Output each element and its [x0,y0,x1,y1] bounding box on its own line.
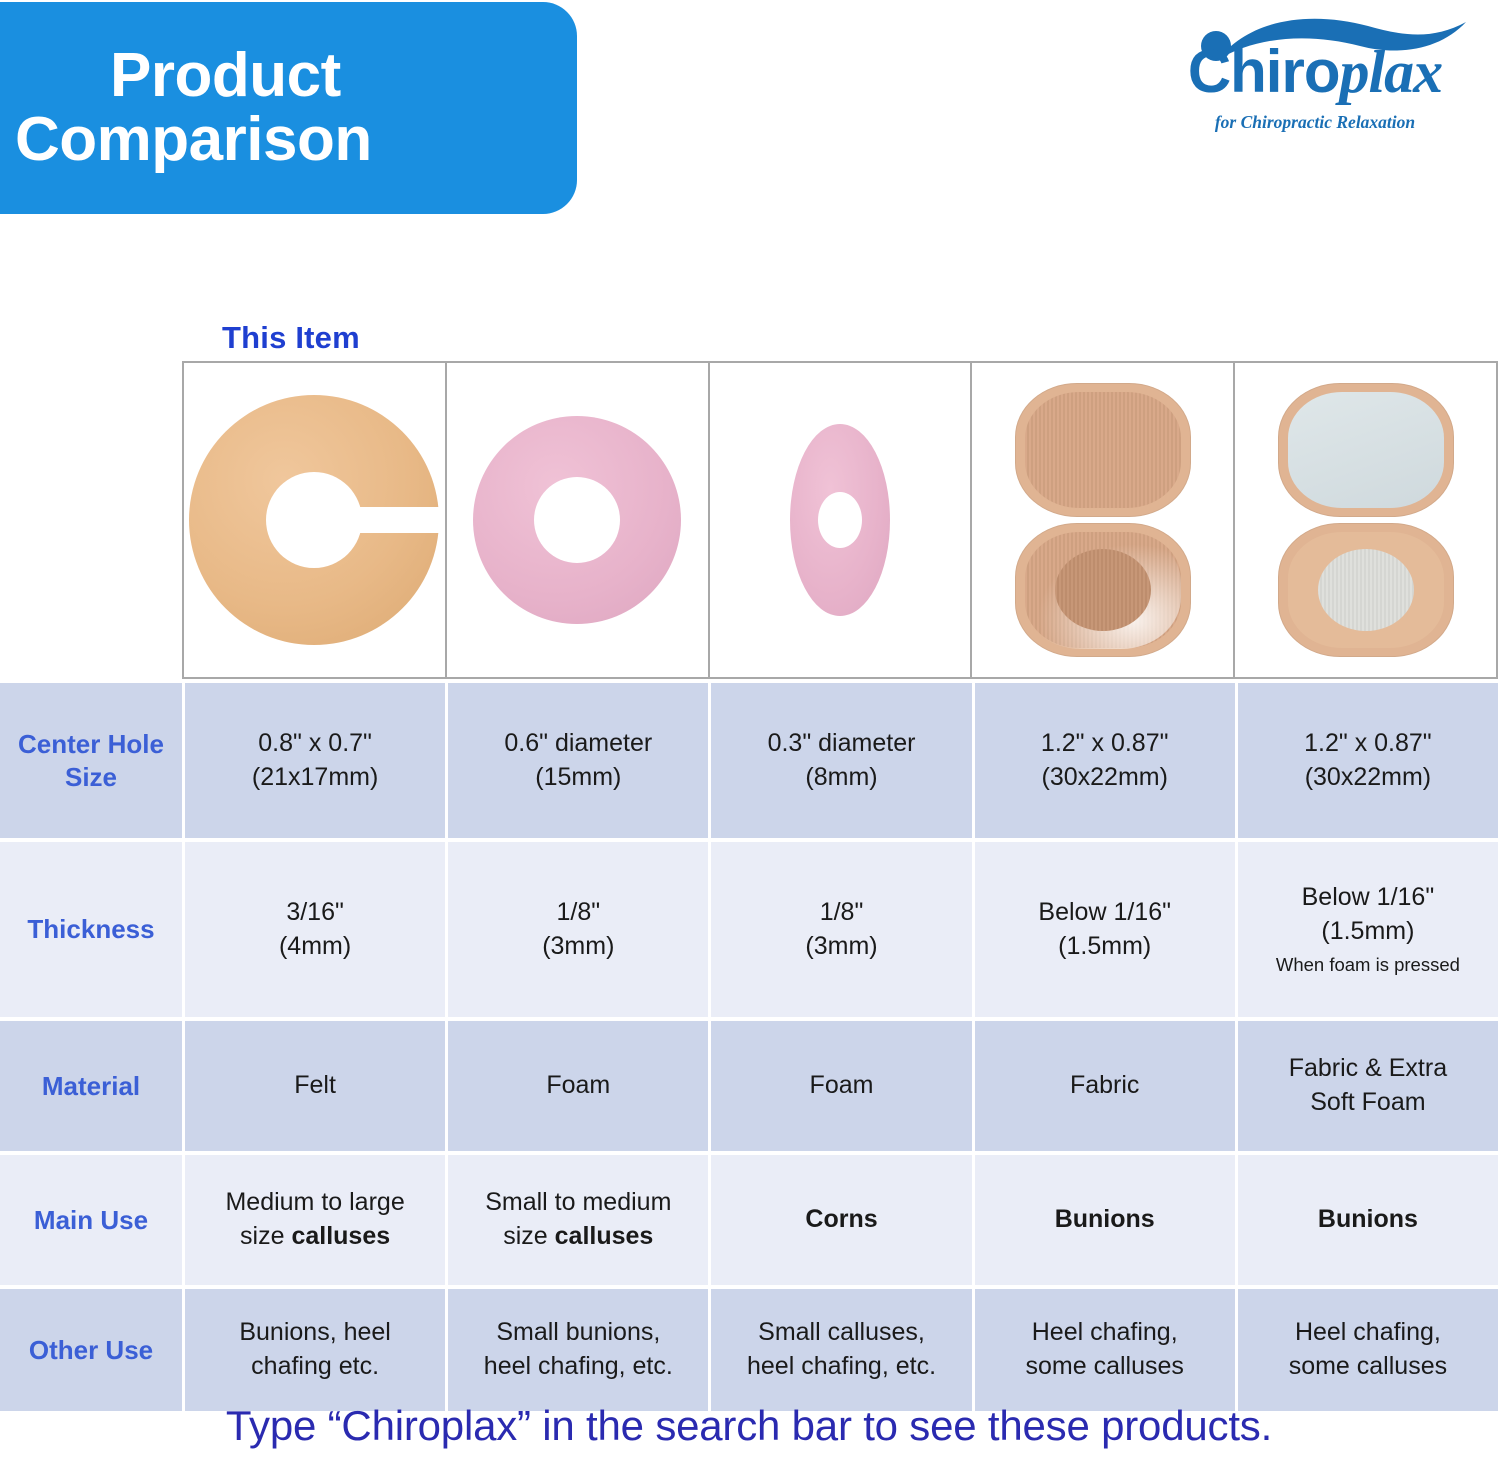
cell-hole-size-col3: 0.3" diameter (8mm) [708,683,971,838]
cell-line1: 0.6" diameter [504,727,652,761]
cell-line2: heel chafing, etc. [484,1350,673,1384]
cell-line1: Bunions, heel [239,1316,391,1350]
cell-main-use-col2: Small to medium size calluses [445,1155,708,1285]
cell-material-col3: Foam [708,1021,971,1151]
cell-line2-bold: calluses [291,1222,390,1250]
row-label-center-hole-size: Center Hole Size [0,683,182,838]
cell-line2: (15mm) [535,761,621,795]
cell-line2: (21x17mm) [252,761,378,795]
felt-pad-opening [355,507,441,533]
cell-line2: (30x22mm) [1042,761,1168,795]
cell-line2: size calluses [503,1220,653,1254]
comparison-table: Center Hole Size 0.8" x 0.7" (21x17mm) 0… [0,361,1498,1411]
table-row-material: Material Felt Foam Foam Fabric Fabric & … [0,1021,1498,1151]
brand-logo: Chiroplax for Chiropractic Relaxation [1150,16,1480,144]
cell-line2: heel chafing, etc. [747,1350,936,1384]
fabric-bunion-pad-pair-art [1015,383,1191,657]
soft-foam-pad-back [1278,523,1454,657]
cell-other-use-col2: Small bunions, heel chafing, etc. [445,1289,708,1411]
cell-line2: (4mm) [279,930,351,964]
cell-line1: Bunions [1055,1203,1155,1237]
cell-main-use-col5: Bunions [1235,1155,1498,1285]
cell-thickness-col2: 1/8" (3mm) [445,842,708,1017]
page-title-line2: Comparison [15,108,577,172]
felt-c-shaped-pad-art [189,395,439,645]
cell-other-use-col3: Small calluses, heel chafing, etc. [708,1289,971,1411]
product-image-row [182,361,1498,679]
cell-line1: Foam [546,1069,610,1103]
cell-line2: some calluses [1026,1350,1184,1384]
fabric-pad-front [1015,383,1191,517]
product-image-foam-corn-pad [710,363,973,677]
cell-line2-text: size [503,1222,554,1250]
product-image-fabric-bunion-pad [972,363,1235,677]
product-image-foam-donut-pad [447,363,710,677]
table-row-center-hole-size: Center Hole Size 0.8" x 0.7" (21x17mm) 0… [0,683,1498,838]
product-image-fabric-soft-foam-bunion-pad [1235,363,1496,677]
logo-tagline: for Chiropractic Relaxation [1150,112,1480,133]
cell-material-col4: Fabric [972,1021,1235,1151]
cell-line1: Below 1/16" [1038,896,1171,930]
title-banner: Product Comparison [0,2,577,214]
cell-other-use-col5: Heel chafing, some calluses [1235,1289,1498,1411]
cell-line2: some calluses [1289,1350,1447,1384]
cell-line1: Corns [805,1203,877,1237]
cell-hole-size-col4: 1.2" x 0.87" (30x22mm) [972,683,1235,838]
product-comparison-infographic: Product Comparison Chiroplax for Chiropr… [0,0,1498,1466]
cell-main-use-col3: Corns [708,1155,971,1285]
cell-line1: 1/8" [556,896,600,930]
cell-line2: (1.5mm) [1321,915,1414,949]
cell-note: When foam is pressed [1276,953,1460,978]
cell-material-col5: Fabric & Extra Soft Foam [1235,1021,1498,1151]
cell-line2: (8mm) [805,761,877,795]
cell-line1: Small calluses, [758,1316,925,1350]
row-label-other-use: Other Use [0,1289,182,1411]
cell-other-use-col4: Heel chafing, some calluses [972,1289,1235,1411]
cell-other-use-col1: Bunions, heel chafing etc. [182,1289,445,1411]
pink-foam-oval-corn-pad-art [790,424,890,616]
table-row-other-use: Other Use Bunions, heel chafing etc. Sma… [0,1289,1498,1411]
cell-line1: Small bunions, [496,1316,660,1350]
logo-wordmark: Chiroplax [1150,42,1480,102]
cell-line2: size calluses [240,1220,390,1254]
cell-line1: 1/8" [820,896,864,930]
cell-thickness-col1: 3/16" (4mm) [182,842,445,1017]
cell-line1: Fabric [1070,1069,1139,1103]
cell-line1: 0.8" x 0.7" [258,727,372,761]
soft-foam-pad-front [1278,383,1454,517]
row-label-line1: Center [18,729,100,759]
cell-hole-size-col1: 0.8" x 0.7" (21x17mm) [182,683,445,838]
cell-line1: Heel chafing, [1032,1316,1178,1350]
cell-line1: 3/16" [286,896,344,930]
cell-line1: Below 1/16" [1302,881,1435,915]
cell-line1: Fabric & Extra [1289,1052,1447,1086]
cell-line2: (30x22mm) [1305,761,1431,795]
cell-hole-size-col5: 1.2" x 0.87" (30x22mm) [1235,683,1498,838]
cell-line2: (1.5mm) [1058,930,1151,964]
cell-line1: Medium to large [225,1186,404,1220]
cell-line1: Heel chafing, [1295,1316,1441,1350]
product-image-felt-c-pad [184,363,447,677]
cell-line1: Foam [810,1069,874,1103]
cell-line2-bold: calluses [555,1222,654,1250]
cell-hole-size-col2: 0.6" diameter (15mm) [445,683,708,838]
this-item-label: This Item [222,320,360,356]
pink-foam-donut-pad-art [473,416,681,624]
row-label-main-use: Main Use [0,1155,182,1285]
cell-thickness-col5: Below 1/16" (1.5mm) When foam is pressed [1235,842,1498,1017]
cell-main-use-col4: Bunions [972,1155,1235,1285]
cell-line1: Bunions [1318,1203,1418,1237]
row-label-material: Material [0,1021,182,1151]
logo-brand-italic: plax [1339,39,1442,105]
cell-line1: 1.2" x 0.87" [1041,727,1169,761]
logo-brand: Chiro [1188,38,1340,105]
row-label-thickness: Thickness [0,842,182,1017]
cell-line2: (3mm) [805,930,877,964]
cell-line1: Small to medium [485,1186,671,1220]
cell-material-col2: Foam [445,1021,708,1151]
table-row-main-use: Main Use Medium to large size calluses S… [0,1155,1498,1285]
fabric-pad-back [1015,523,1191,657]
footer-instruction: Type “Chiroplax” in the search bar to se… [0,1402,1498,1450]
cell-line1: 1.2" x 0.87" [1304,727,1432,761]
page-title-line1: Product [110,44,577,108]
cell-main-use-col1: Medium to large size calluses [182,1155,445,1285]
cell-thickness-col4: Below 1/16" (1.5mm) [972,842,1235,1017]
header: Product Comparison Chiroplax for Chiropr… [0,0,1498,232]
fabric-soft-foam-bunion-pad-pair-art [1278,383,1454,657]
cell-line2: chafing etc. [251,1350,379,1384]
table-row-thickness: Thickness 3/16" (4mm) 1/8" (3mm) 1/8" (3… [0,842,1498,1017]
cell-thickness-col3: 1/8" (3mm) [708,842,971,1017]
cell-line1: Felt [294,1069,336,1103]
cell-line2: Soft Foam [1310,1086,1425,1120]
cell-line1: 0.3" diameter [768,727,916,761]
cell-line2-text: size [240,1222,291,1250]
cell-line2: (3mm) [542,930,614,964]
cell-material-col1: Felt [182,1021,445,1151]
